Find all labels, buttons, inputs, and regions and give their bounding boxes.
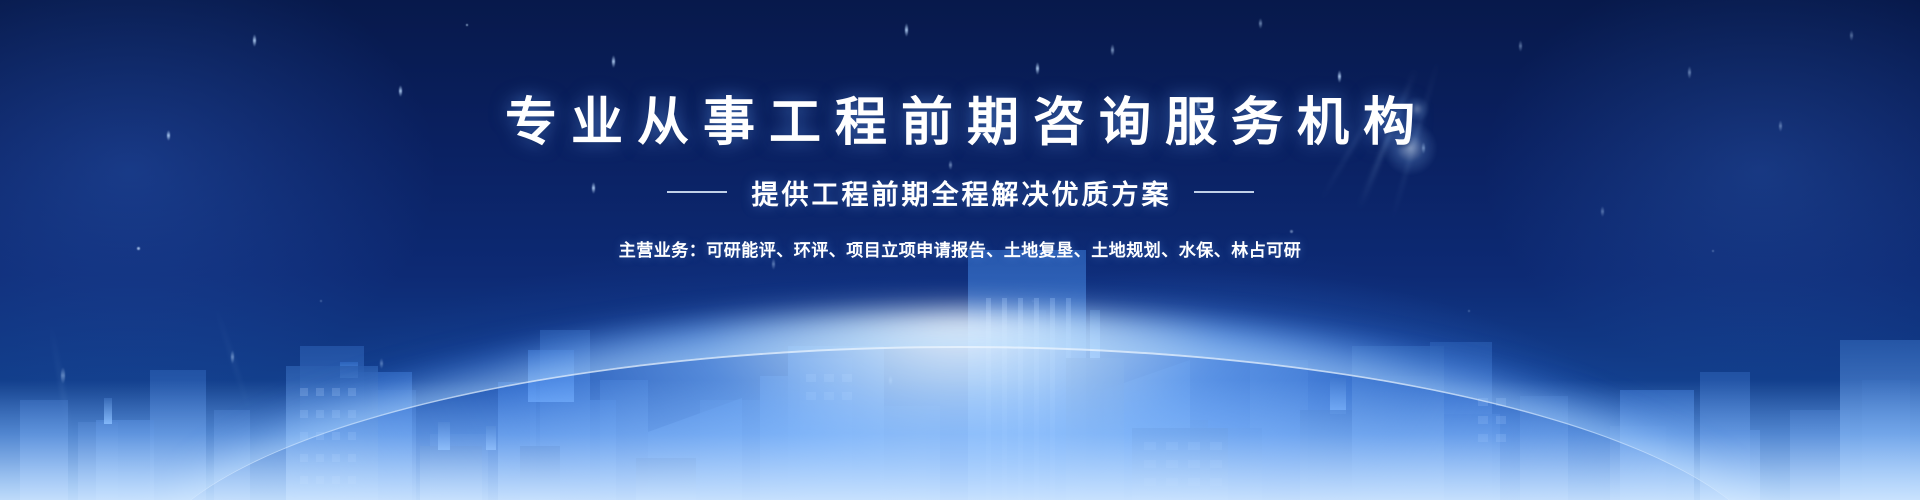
bottom-light-wash [0, 380, 1920, 500]
skyline-windows [300, 374, 1506, 486]
skyline-layer-mid [96, 346, 1760, 500]
dash-right-icon [1194, 191, 1254, 193]
banner-subtitle: 提供工程前期全程解决优质方案 [749, 173, 1172, 212]
skyline-landmark-tower [968, 250, 1086, 500]
horizon-glow [110, 310, 1810, 500]
skyline-layer-near [104, 310, 1920, 500]
city-skyline [0, 250, 1920, 500]
dash-left-icon [667, 191, 727, 193]
banner-content: 专业从事工程前期咨询服务机构 提供工程前期全程解决优质方案 主营业务：可研能评、… [0, 96, 1920, 261]
banner-services-line: 主营业务：可研能评、环评、项目立项申请报告、土地复垦、土地规划、水保、林占可研 [0, 236, 1920, 261]
hero-banner: 专业从事工程前期咨询服务机构 提供工程前期全程解决优质方案 主营业务：可研能评、… [0, 0, 1920, 500]
horizon-arc-line [140, 346, 1780, 500]
skyline-layer-far [20, 310, 1910, 500]
banner-subtitle-row: 提供工程前期全程解决优质方案 [0, 173, 1920, 212]
banner-headline: 专业从事工程前期咨询服务机构 [0, 96, 1920, 151]
